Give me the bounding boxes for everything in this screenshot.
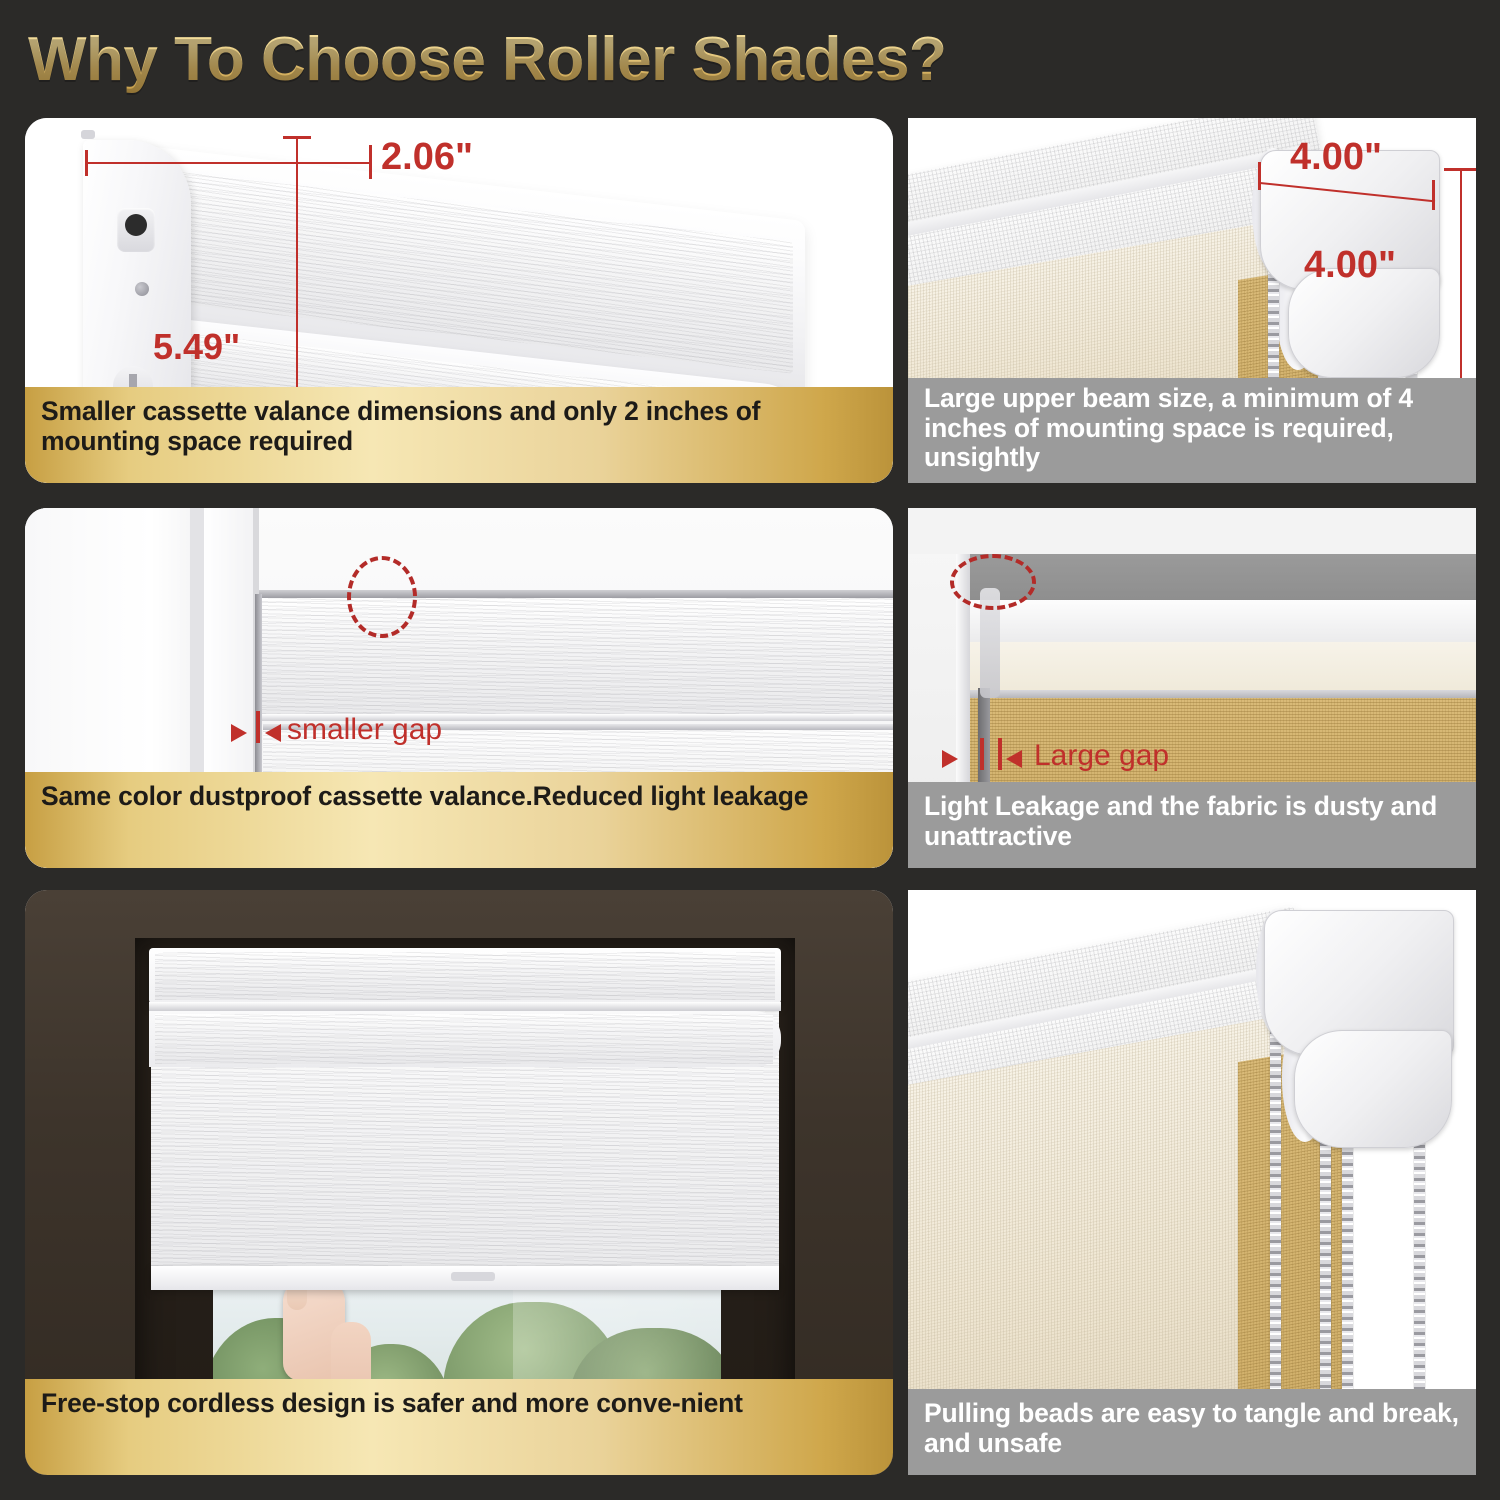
caption-bar-panel6: Pulling beads are easy to tangle and bre… [908, 1389, 1476, 1475]
photo-pulling-beads [908, 890, 1476, 1475]
caption-bar-panel2: Large upper beam size, a minimum of 4 in… [908, 378, 1476, 483]
caption-bar-panel4: Light Leakage and the fabric is dusty an… [908, 782, 1476, 868]
caption-text-panel4: Light Leakage and the fabric is dusty an… [924, 792, 1460, 851]
panel-large-upper-beam: 4.00" 4.00" Large upper beam size, a min… [908, 118, 1476, 483]
beam-width-dimension-label: 4.00" [1290, 136, 1382, 179]
beam-height-dimension-line [1460, 170, 1462, 388]
panel-dustproof-cassette-valance: smaller gap Same color dustproof cassett… [25, 508, 893, 868]
gap-highlight-circle [950, 554, 1036, 610]
gap-highlight-circle [347, 556, 417, 638]
shade-pull-tab [451, 1272, 495, 1281]
gap-callout-label: smaller gap [287, 713, 442, 747]
width-dimension-label: 2.06" [381, 136, 473, 179]
gap-arrow-right [1006, 750, 1022, 768]
gap-arrow-left [942, 750, 958, 768]
caption-text-panel1: Smaller cassette valance dimensions and … [41, 397, 877, 456]
caption-text-panel6: Pulling beads are easy to tangle and bre… [924, 1399, 1460, 1458]
caption-bar-panel1: Smaller cassette valance dimensions and … [25, 387, 893, 483]
beam-height-dimension-label: 4.00" [1304, 244, 1396, 287]
gap-arrow-right [265, 724, 281, 742]
width-dimension-line [87, 162, 372, 164]
height-dimension-label: 5.49" [153, 326, 240, 368]
caption-bar-panel3: Same color dustproof cassette valance.Re… [25, 772, 893, 868]
caption-text-panel3: Same color dustproof cassette valance.Re… [41, 782, 808, 812]
infographic-page: Why To Choose Roller Shades? [0, 0, 1500, 1500]
caption-text-panel5: Free-stop cordless design is safer and m… [41, 1389, 743, 1419]
gap-callout-label: Large gap [1034, 739, 1169, 773]
endcap-screw-icon [135, 282, 149, 296]
panel-pulling-beads-tangle: Pulling beads are easy to tangle and bre… [908, 890, 1476, 1475]
caption-text-panel2: Large upper beam size, a minimum of 4 in… [924, 384, 1460, 473]
panel-light-leakage: Large gap Light Leakage and the fabric i… [908, 508, 1476, 868]
comparison-grid: 2.06" 5.49" Smaller cassette valance dim… [0, 0, 1500, 1500]
panel-cassette-valance-dimensions: 2.06" 5.49" Smaller cassette valance dim… [25, 118, 893, 483]
panel-free-stop-cordless: Free-stop cordless design is safer and m… [25, 890, 893, 1475]
caption-bar-panel5: Free-stop cordless design is safer and m… [25, 1379, 893, 1475]
